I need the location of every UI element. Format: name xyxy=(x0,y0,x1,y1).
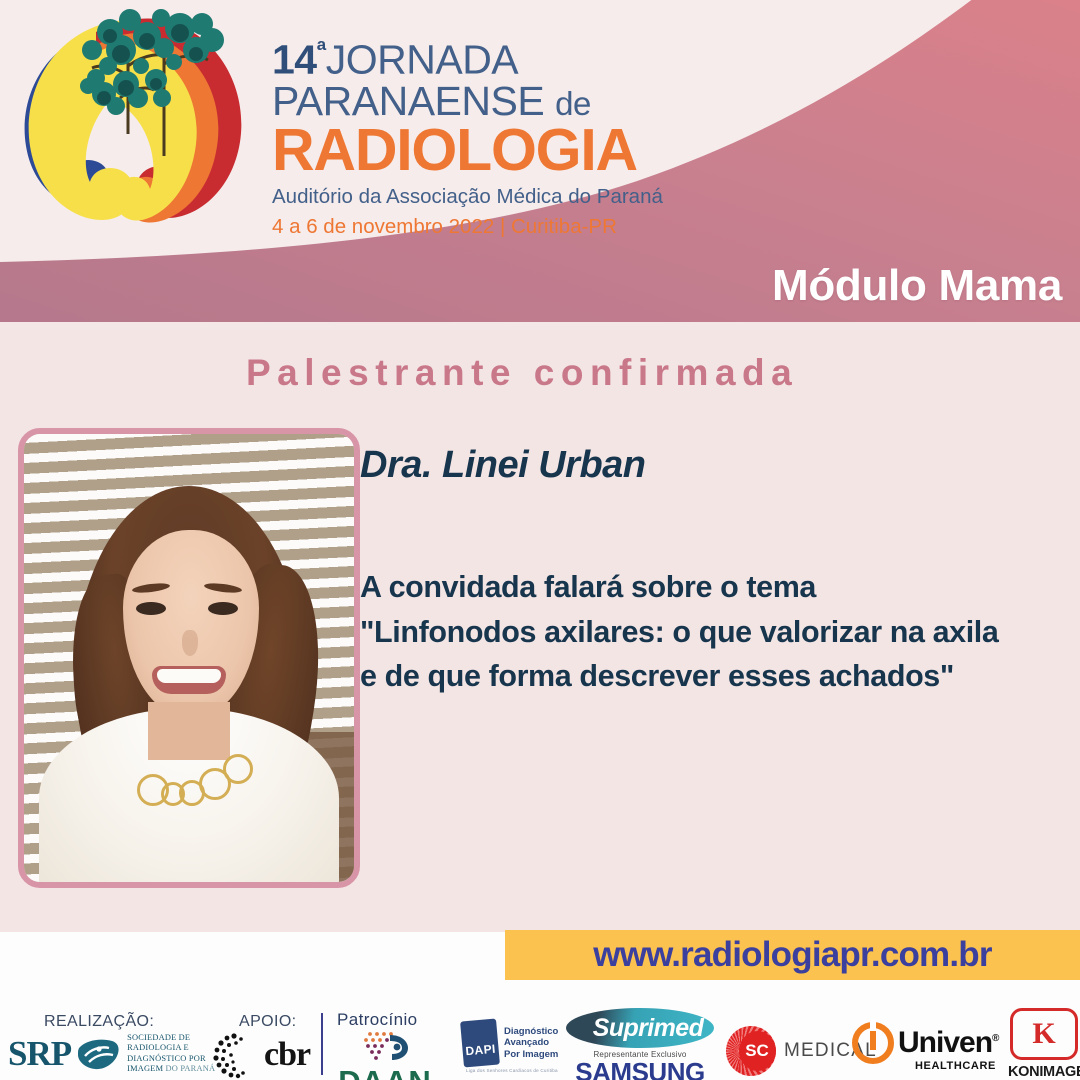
samsung-wordmark: SAMSUNG xyxy=(566,1059,714,1080)
srp-acronym: SRP xyxy=(8,1034,71,1074)
suprimed-wordmark: Suprimed xyxy=(593,1014,704,1043)
daan-dots-icon xyxy=(350,1030,420,1064)
sponsor-suprimed-logo: Suprimed Representante Exclusivo SAMSUNG xyxy=(566,1008,714,1080)
univen-tagline: HEALTHCARE xyxy=(915,1060,996,1072)
srp-sub-1: SOCIEDADE DE xyxy=(127,1033,215,1043)
konimagem-mark: K xyxy=(1010,1008,1078,1060)
sponsor-konimagem-logo: K KONIMAGEM xyxy=(1008,1008,1080,1080)
konimagem-initial: K xyxy=(1032,1019,1055,1049)
event-title-block: 14ªJORNADA PARANAENSE de RADIOLOGIA Audi… xyxy=(272,38,672,239)
dapi-acronym: DAPI xyxy=(465,1042,496,1059)
edition-ordinal: ª xyxy=(317,35,326,65)
dapi-sub-3: Por Imagem xyxy=(504,1049,558,1061)
konimagem-wordmark: KONIMAGEM xyxy=(1008,1064,1080,1080)
edition-number: 14 xyxy=(272,37,317,83)
radiologia-word: RADIOLOGIA xyxy=(272,121,672,180)
dapi-fineprint: Liga dos Senhores Cardíacos de Curitiba xyxy=(466,1068,558,1073)
sponsor-srp-logo: SRP SOCIEDADE DE RADIOLOGIA E DIAGNÓSTIC… xyxy=(8,1033,215,1074)
topic-line-1: A convidada falará sobre o tema xyxy=(360,565,1080,610)
dapi-sub-2: Avançado xyxy=(504,1037,558,1049)
sponsor-univen-logo: Univen® xyxy=(852,1022,998,1064)
event-dates: 4 a 6 de novembro 2022 | Curitiba-PR xyxy=(272,215,672,239)
topic-line-3: e de que forma descrever esses achados" xyxy=(360,654,1080,699)
univen-wordmark: Univen® xyxy=(898,1026,998,1060)
photo-mouth xyxy=(152,666,226,694)
website-banner[interactable]: www.radiologiapr.com.br xyxy=(505,930,1080,980)
cbr-dots-icon xyxy=(212,1030,262,1080)
photo-eye-right xyxy=(208,602,238,615)
srp-subtitle: SOCIEDADE DE RADIOLOGIA E DIAGNÓSTICO PO… xyxy=(127,1033,215,1074)
label-apoio: APOIO: xyxy=(239,1013,297,1031)
dapi-subtitle: Diagnóstico Avançado Por Imagem xyxy=(504,1026,558,1061)
univen-registered-mark: ® xyxy=(992,1033,998,1044)
label-realizacao: REALIZAÇÃO: xyxy=(44,1013,154,1031)
speaker-topic: A convidada falará sobre o tema "Linfono… xyxy=(360,565,1080,699)
daan-wordmark: DAAN xyxy=(337,1066,433,1080)
dapi-sub-1: Diagnóstico xyxy=(504,1026,558,1038)
cbr-wordmark: cbr xyxy=(264,1036,310,1074)
sponsor-dapi-logo: DAPI Diagnóstico Avançado Por Imagem xyxy=(462,1020,558,1066)
suprimed-mark: Suprimed xyxy=(566,1008,714,1048)
event-venue: Auditório da Associação Médica do Paraná xyxy=(272,185,672,209)
jornada-word: JORNADA xyxy=(326,37,518,83)
website-url: www.radiologiapr.com.br xyxy=(593,935,991,975)
speaker-name: Dra. Linei Urban xyxy=(360,444,646,487)
section-label-palestrante: Palestrante confirmada xyxy=(246,352,798,394)
sc-medical-mark: SC xyxy=(726,1026,776,1076)
srp-sub-2: RADIOLOGIA E xyxy=(127,1043,215,1053)
event-title-line1: 14ªJORNADA xyxy=(272,38,672,80)
photo-nose xyxy=(182,630,198,656)
de-word: de xyxy=(555,85,591,122)
module-badge: Módulo Mama xyxy=(772,261,1062,311)
srp-sub-4: IMAGEM DO PARANÁ xyxy=(127,1064,215,1074)
sc-medical-initials: SC xyxy=(745,1041,769,1061)
sponsor-daan-logo: DAAN IMAGEM xyxy=(337,1030,433,1080)
photo-necklace xyxy=(137,752,257,804)
topic-line-2: "Linfonodos axilares: o que valorizar na… xyxy=(360,610,1080,655)
srp-state-icon xyxy=(77,1036,121,1072)
label-patrocinio: Patrocínio xyxy=(337,1010,418,1030)
footer-divider xyxy=(321,1013,323,1075)
photo-eye-left xyxy=(136,602,166,615)
univen-power-icon xyxy=(852,1022,894,1064)
dapi-mark: DAPI xyxy=(460,1019,500,1068)
speaker-photo xyxy=(18,428,360,888)
poster-root: 14ªJORNADA PARANAENSE de RADIOLOGIA Audi… xyxy=(0,0,1080,1080)
sponsor-cbr-logo: cbr xyxy=(212,1030,310,1080)
srp-sub-3: DIAGNÓSTICO POR xyxy=(127,1054,215,1064)
jornada-logo-icon xyxy=(4,6,260,246)
